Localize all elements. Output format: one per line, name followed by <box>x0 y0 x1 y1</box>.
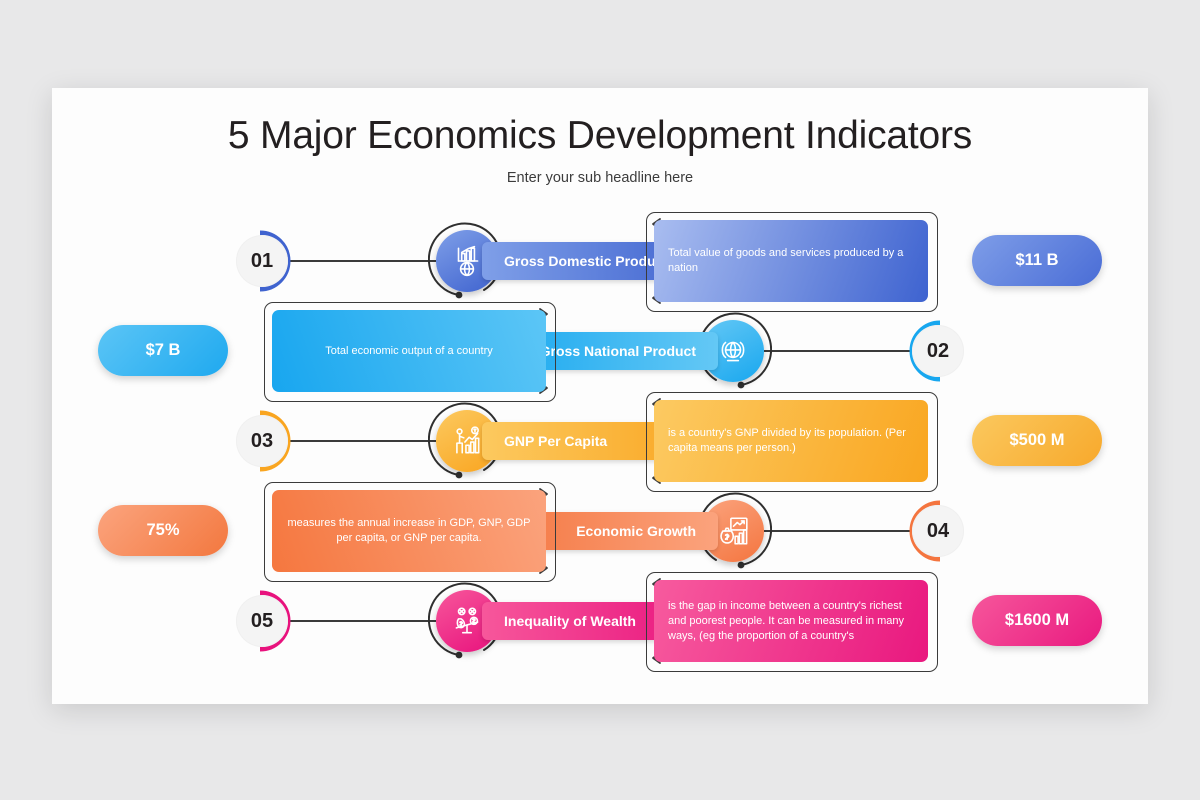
indicator-row[interactable]: 05Inequality of Wealthis the gap in inco… <box>52 566 1148 676</box>
indicator-value-pill[interactable]: $500 M <box>972 415 1102 466</box>
indicator-number-badge[interactable]: 04 <box>906 499 970 563</box>
indicator-number: 05 <box>236 595 288 647</box>
indicator-number-badge[interactable]: 05 <box>230 589 294 653</box>
indicator-value-pill[interactable]: $11 B <box>972 235 1102 286</box>
indicator-number: 01 <box>236 235 288 287</box>
page-subtitle: Enter your sub headline here <box>52 170 1148 186</box>
indicator-value-pill[interactable]: 75% <box>98 505 228 556</box>
indicator-number: 04 <box>912 505 964 557</box>
indicator-description: Total value of goods and services produc… <box>654 220 928 302</box>
indicator-number: 02 <box>912 325 964 377</box>
indicator-description: is a country's GNP divided by its popula… <box>654 400 928 482</box>
indicator-number-badge[interactable]: 01 <box>230 229 294 293</box>
indicator-description: measures the annual increase in GDP, GNP… <box>272 490 546 572</box>
indicator-description: Total economic output of a country <box>272 310 546 392</box>
connector-line <box>764 530 916 532</box>
connector-line <box>284 440 436 442</box>
indicator-description: is the gap in income between a country's… <box>654 580 928 662</box>
connector-line <box>284 260 436 262</box>
indicator-number-badge[interactable]: 02 <box>906 319 970 383</box>
connector-line <box>284 620 436 622</box>
page-title: 5 Major Economics Development Indicators <box>52 114 1148 158</box>
indicator-number: 03 <box>236 415 288 467</box>
indicator-description-frame: is the gap in income between a country's… <box>646 572 936 670</box>
connector-line <box>764 350 916 352</box>
indicator-number-badge[interactable]: 03 <box>230 409 294 473</box>
indicator-value-pill[interactable]: $1600 M <box>972 595 1102 646</box>
indicator-value-pill[interactable]: $7 B <box>98 325 228 376</box>
slide-card: 5 Major Economics Development Indicators… <box>52 88 1148 704</box>
